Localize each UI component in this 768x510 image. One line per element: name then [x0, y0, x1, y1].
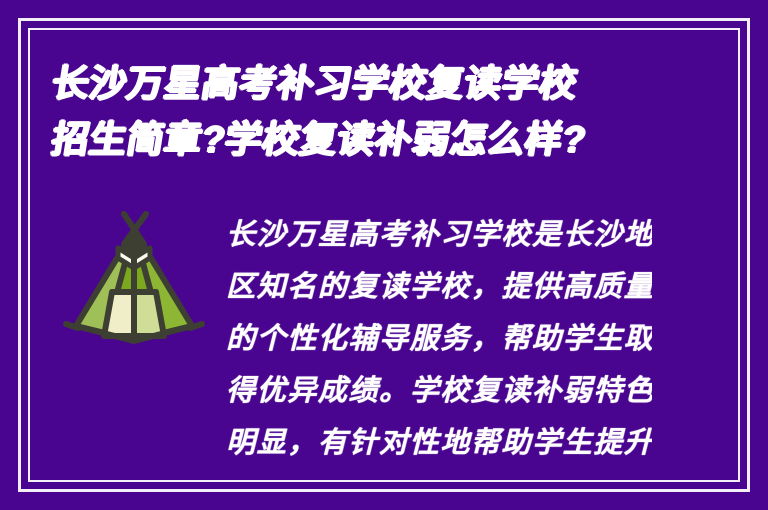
title-line-2: 招生简章?学校复读补弱怎么样?: [48, 112, 657, 168]
body-line-3: 的个性化辅导服务，帮助学生取: [226, 312, 652, 364]
title-line-1: 长沙万星高考补习学校复读学校: [48, 56, 657, 112]
body-line-2: 区知名的复读学校，提供高质量: [226, 260, 652, 312]
teepee-tent-icon: [58, 200, 210, 350]
body-line-1: 长沙万星高考补习学校是长沙地: [226, 208, 652, 260]
page-title: 长沙万星高考补习学校复读学校 招生简章?学校复读补弱怎么样?: [52, 56, 652, 168]
body-line-4: 得优异成绩。学校复读补弱特色: [226, 364, 652, 416]
banner-canvas: 长沙万星高考补习学校复读学校 招生简章?学校复读补弱怎么样?: [0, 0, 768, 510]
body-copy: 长沙万星高考补习学校是长沙地 区知名的复读学校，提供高质量 的个性化辅导服务，帮…: [226, 208, 652, 480]
body-line-5: 明显，有针对性地帮助学生提升: [226, 416, 652, 468]
